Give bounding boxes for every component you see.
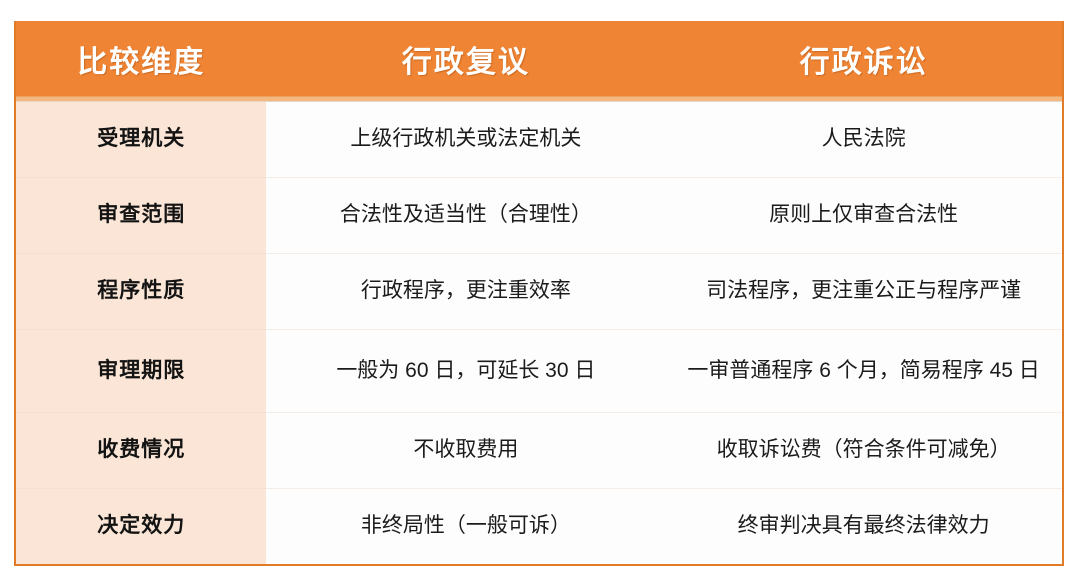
cell-lawsuit-trial-time-limit: 一审普通程序 6 个月，简易程序 45 日 <box>665 330 1063 413</box>
table-row: 决定效力 非终局性（一般可诉） 终审判决具有最终法律效力 <box>15 489 1063 565</box>
comparison-table: 比较维度 行政复议 行政诉讼 受理机关 上级行政机关或法定机关 人民法院 审查范… <box>14 21 1064 566</box>
table-header: 比较维度 行政复议 行政诉讼 <box>15 21 1063 102</box>
column-header-administrative-review: 行政复议 <box>266 21 665 97</box>
header-row: 比较维度 行政复议 行政诉讼 <box>15 21 1063 97</box>
column-header-administrative-litigation: 行政诉讼 <box>665 21 1063 97</box>
cell-lawsuit-review-scope: 原则上仅审查合法性 <box>665 178 1063 254</box>
row-label-fees: 收费情况 <box>15 413 266 489</box>
row-label-review-scope: 审查范围 <box>15 178 266 254</box>
cell-lawsuit-fees: 收取诉讼费（符合条件可减免） <box>665 413 1063 489</box>
row-label-decision-effect: 决定效力 <box>15 489 266 565</box>
cell-lawsuit-procedure-nature: 司法程序，更注重公正与程序严谨 <box>665 254 1063 330</box>
comparison-table-container: 比较维度 行政复议 行政诉讼 受理机关 上级行政机关或法定机关 人民法院 审查范… <box>14 21 1064 559</box>
table-row: 审查范围 合法性及适当性（合理性） 原则上仅审查合法性 <box>15 178 1063 254</box>
cell-review-review-scope: 合法性及适当性（合理性） <box>266 178 665 254</box>
cell-review-procedure-nature: 行政程序，更注重效率 <box>266 254 665 330</box>
table-row: 受理机关 上级行政机关或法定机关 人民法院 <box>15 102 1063 178</box>
table-row: 程序性质 行政程序，更注重效率 司法程序，更注重公正与程序严谨 <box>15 254 1063 330</box>
cell-review-decision-effect: 非终局性（一般可诉） <box>266 489 665 565</box>
row-label-procedure-nature: 程序性质 <box>15 254 266 330</box>
cell-lawsuit-decision-effect: 终审判决具有最终法律效力 <box>665 489 1063 565</box>
cell-review-accepting-authority: 上级行政机关或法定机关 <box>266 102 665 178</box>
table-body: 受理机关 上级行政机关或法定机关 人民法院 审查范围 合法性及适当性（合理性） … <box>15 102 1063 565</box>
column-header-dimension: 比较维度 <box>15 21 266 97</box>
row-label-trial-time-limit: 审理期限 <box>15 330 266 413</box>
cell-lawsuit-accepting-authority: 人民法院 <box>665 102 1063 178</box>
row-label-accepting-authority: 受理机关 <box>15 102 266 178</box>
cell-review-fees: 不收取费用 <box>266 413 665 489</box>
cell-review-trial-time-limit: 一般为 60 日，可延长 30 日 <box>266 330 665 413</box>
table-row: 审理期限 一般为 60 日，可延长 30 日 一审普通程序 6 个月，简易程序 … <box>15 330 1063 413</box>
table-row: 收费情况 不收取费用 收取诉讼费（符合条件可减免） <box>15 413 1063 489</box>
